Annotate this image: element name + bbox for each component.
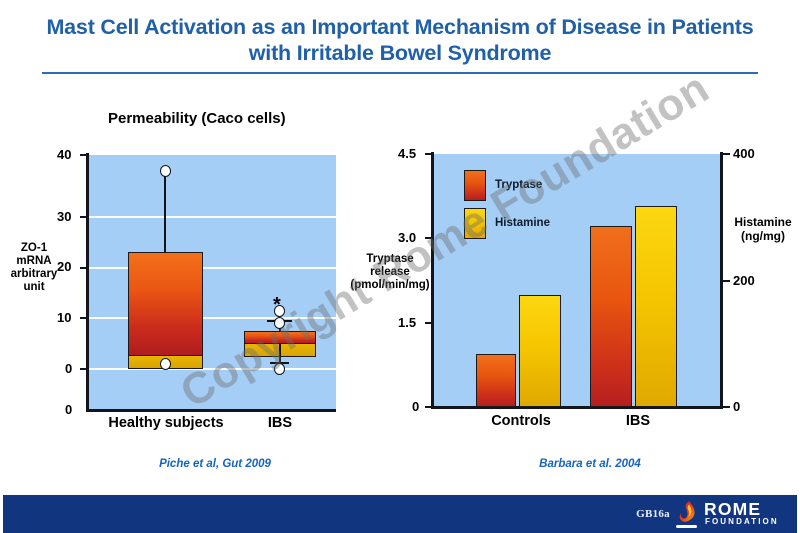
y-axis-title-text: ZO-1 mRNA arbitrary unit <box>11 242 58 293</box>
y-axis-title-permeability: ZO-1 mRNA arbitrary unit <box>8 242 60 294</box>
ytick-label-right-200: 200 <box>733 273 755 288</box>
datapoint-healthy-min <box>160 358 171 370</box>
ytick-label-left-1-5: 1.5 <box>398 315 416 330</box>
citation-barbara: Barbara et al. 2004 <box>470 458 710 470</box>
gridline-0 <box>89 368 336 370</box>
ytick-label-30: 30 <box>57 209 71 224</box>
category-label-healthy: Healthy subjects <box>106 415 226 432</box>
title-divider <box>42 72 758 74</box>
y-axis-title-right-text: Histamine (ng/mg) <box>734 215 791 243</box>
gridline-20 <box>89 267 336 269</box>
logo-wordmark: ROME <box>704 500 761 518</box>
ytick-label-left-3-0: 3.0 <box>398 230 416 245</box>
logo-subtitle: FOUNDATION <box>705 517 779 526</box>
ytick-label-0: 0 <box>65 361 72 376</box>
ytick-mark-right-400 <box>723 153 730 155</box>
ytick-mark-0 <box>80 368 87 370</box>
ytick-mark-40 <box>80 154 87 156</box>
citation-piche: Piche et al, Gut 2009 <box>95 458 335 470</box>
gridline-30 <box>89 216 336 218</box>
box-healthy-subjects <box>128 252 203 356</box>
plot-area-permeability <box>89 155 336 410</box>
axis-origin-label: 0 <box>65 402 72 417</box>
x-axis-permeability <box>86 409 336 412</box>
bar-ibs-histamine <box>635 206 677 407</box>
ytick-label-right-0: 0 <box>733 399 740 414</box>
ytick-mark-left-1-5 <box>425 322 432 324</box>
chart-title-permeability: Permeability (Caco cells) <box>108 110 286 127</box>
bar-controls-histamine <box>519 295 561 407</box>
whisker-healthy <box>164 173 166 253</box>
y-axis-title-left-mediator: Tryptase release (pmol/min/mg) <box>348 253 432 292</box>
page-title: Mast Cell Activation as an Important Mec… <box>30 14 770 66</box>
legend-swatch-tryptase <box>464 170 486 201</box>
category-label-healthy-text: Healthy subjects <box>108 415 223 431</box>
ytick-label-left-4-5: 4.5 <box>398 146 416 161</box>
category-label-ibs-right: IBS <box>598 413 678 429</box>
ytick-label-10: 10 <box>57 310 71 325</box>
ytick-mark-right-200 <box>723 280 730 282</box>
significance-marker: * <box>273 300 281 310</box>
x-axis-mediator <box>431 406 723 409</box>
y-axis-title-right-mediator: Histamine (ng/mg) <box>726 215 800 243</box>
ytick-mark-20 <box>80 267 87 269</box>
datapoint-ibs-3 <box>274 363 285 375</box>
rome-foundation-logo: ROME FOUNDATION <box>676 500 788 530</box>
y-axis-title-left-text: Tryptase release (pmol/min/mg) <box>350 253 429 291</box>
ytick-label-40: 40 <box>57 147 71 162</box>
ytick-mark-30 <box>80 216 87 218</box>
legend-label-tryptase: Tryptase <box>495 179 542 191</box>
logo-underline <box>676 525 697 528</box>
y-axis-permeability <box>86 153 89 412</box>
whisker-ibs-lower <box>279 343 281 363</box>
ytick-mark-left-3-0 <box>425 237 432 239</box>
bar-ibs-tryptase <box>590 226 632 407</box>
bar-controls-tryptase <box>476 354 516 407</box>
ytick-mark-left-0 <box>425 406 432 408</box>
ytick-label-left-0: 0 <box>412 399 419 414</box>
ytick-label-right-400: 400 <box>733 146 755 161</box>
gridline-10 <box>89 317 336 319</box>
legend-label-histamine: Histamine <box>495 217 550 229</box>
legend-swatch-histamine <box>464 208 486 239</box>
category-label-controls: Controls <box>466 413 576 429</box>
datapoint-ibs-2 <box>274 317 285 329</box>
datapoint-healthy-max <box>160 165 171 177</box>
ytick-mark-left-4-5 <box>425 153 432 155</box>
ytick-mark-right-0 <box>723 406 730 408</box>
slide-code: GB16a <box>636 508 670 520</box>
category-label-ibs: IBS <box>240 415 320 431</box>
ytick-mark-10 <box>80 317 87 319</box>
